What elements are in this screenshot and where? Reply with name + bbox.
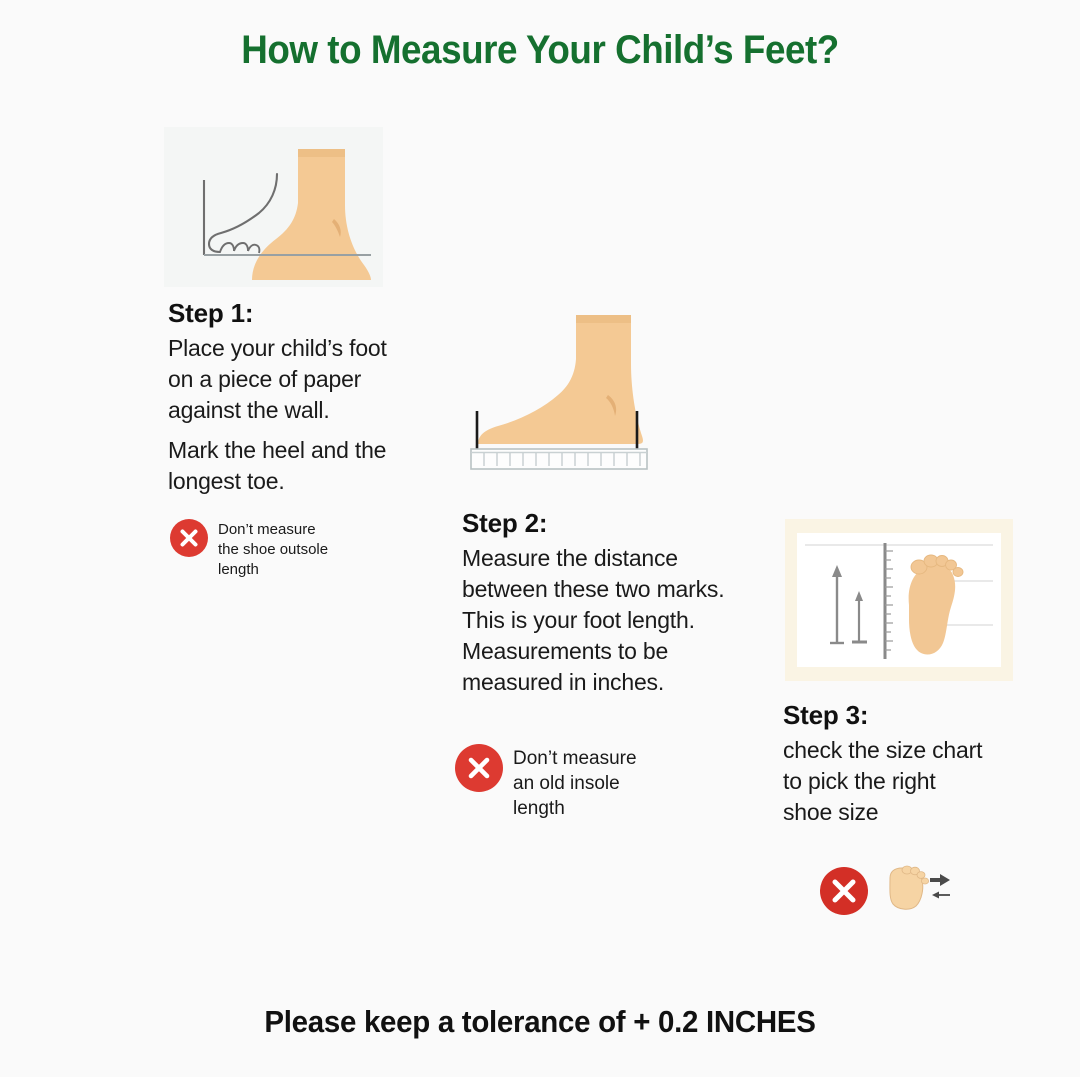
step-2-line-4: Measurements to be [462,636,792,667]
step-1-warning-line-3: length [218,560,328,580]
step-3-warning [820,862,952,919]
infographic-canvas: How to Measure Your Child’s Feet? Step 1… [0,0,1080,1077]
step-1-warning-text: Don’t measure the shoe outsole length [218,519,328,580]
step-2-warning: Don’t measure an old insole length [455,744,675,821]
step-3-line-2: to pick the right [783,766,1033,797]
step-2-line-2: between these two marks. [462,574,792,605]
step-3-line-1: check the size chart [783,735,1033,766]
foot-profile-against-wall-icon [164,127,383,287]
footprint-on-measuring-chart-icon [797,533,1001,667]
step-1-body: Place your child’s foot on a piece of pa… [168,333,418,497]
step-3-line-3: shoe size [783,797,1033,828]
step-1-warning: Don’t measure the shoe outsole length [170,519,370,580]
red-circle-x-icon [455,744,503,792]
page-title: How to Measure Your Child’s Feet? [43,28,1037,73]
step-1-line-3: against the wall. [168,395,418,426]
step-3-body: check the size chart to pick the right s… [783,735,1033,828]
step-2-heading: Step 2: [462,508,792,539]
step-1-warning-line-2: the shoe outsole [218,540,328,560]
step-1-text-block: Step 1: Place your child’s foot on a pie… [168,298,418,497]
step-1-line-2: on a piece of paper [168,364,418,395]
step-2-text-block: Step 2: Measure the distance between the… [462,508,792,698]
step-3-chart-area [797,533,1001,667]
step-1-line-1: Place your child’s foot [168,333,418,364]
tolerance-note: Please keep a tolerance of + 0.2 INCHES [27,1004,1053,1040]
step-2-warning-text: Don’t measure an old insole length [513,744,637,821]
step-2-warning-line-1: Don’t measure [513,746,637,771]
foot-profile-on-ruler-with-marks-icon [458,303,673,483]
step-3-illustration-panel [785,519,1013,681]
step-1-heading: Step 1: [168,298,418,329]
footprint-width-arrows-icon [882,862,952,919]
step-1-line-4: Mark the heel and the [168,435,418,466]
step-2-warning-line-3: length [513,796,637,821]
step-2-warning-line-2: an old insole [513,771,637,796]
red-circle-x-icon [170,519,208,557]
step-2-illustration-panel [458,303,673,483]
step-1-warning-line-1: Don’t measure [218,520,328,540]
step-2-line-1: Measure the distance [462,543,792,574]
step-3-heading: Step 3: [783,700,1033,731]
step-1-line-5: longest toe. [168,466,418,497]
step-1-illustration-panel [164,127,383,287]
step-3-text-block: Step 3: check the size chart to pick the… [783,700,1033,828]
step-2-body: Measure the distance between these two m… [462,543,792,698]
step-2-line-3: This is your foot length. [462,605,792,636]
step-2-line-5: measured in inches. [462,667,792,698]
red-circle-x-icon [820,867,868,915]
